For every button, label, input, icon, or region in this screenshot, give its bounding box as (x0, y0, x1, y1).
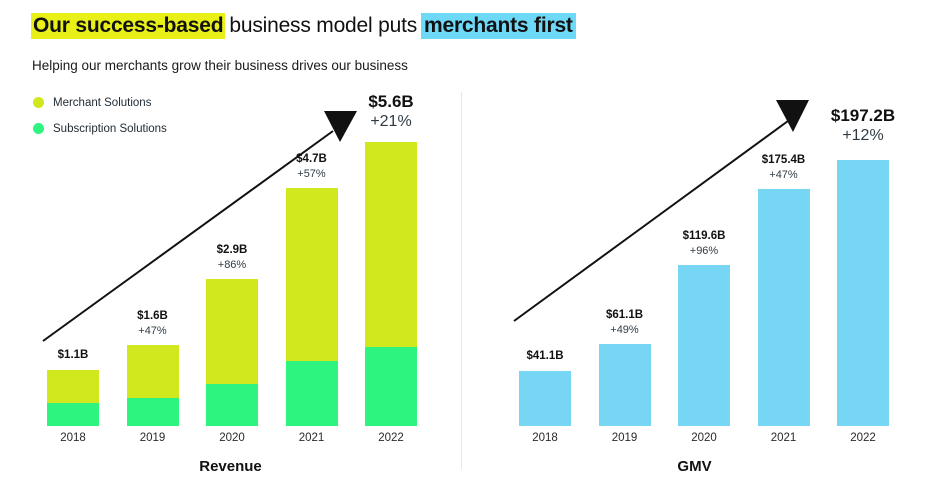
bar-value-label: $4.7B (257, 152, 367, 167)
x-axis-label-2019: 2019 (595, 432, 655, 444)
bar-value-label: $1.6B (98, 309, 208, 324)
bar-gmv-2018[interactable] (519, 371, 571, 426)
bar-annotation-2019: $1.6B+47% (98, 309, 208, 338)
bar-value-label: $1.1B (18, 348, 128, 363)
bar-value-label: $197.2B (798, 105, 927, 126)
bar-growth-label: +12% (798, 126, 927, 146)
bar-segment-subscription-solutions (206, 384, 258, 426)
x-axis-label-2022: 2022 (833, 432, 893, 444)
bar-annotation-2018: $41.1B (490, 349, 600, 364)
bar-annotation-2018: $1.1B (18, 348, 128, 363)
bar-value-label: $41.1B (490, 349, 600, 364)
bar-segment-gmv (758, 189, 810, 426)
bar-segment-subscription-solutions (127, 398, 179, 426)
bar-growth-label: +47% (98, 324, 208, 338)
x-axis-label-2021: 2021 (754, 432, 814, 444)
gmv-plot-area: 2018$41.1B2019$61.1B+49%2020$119.6B+96%2… (462, 0, 927, 478)
revenue-plot-area: 2018$1.1B2019$1.6B+47%2020$2.9B+86%2021$… (0, 0, 461, 478)
bar-segment-subscription-solutions (47, 403, 99, 426)
bar-annotation-2020: $2.9B+86% (177, 243, 287, 272)
bar-annotation-2021: $175.4B+47% (729, 153, 839, 182)
bar-annotation-2022: $197.2B+12% (798, 105, 927, 146)
bar-segment-merchant-solutions (365, 142, 417, 347)
bar-value-label: $119.6B (649, 229, 759, 244)
x-axis-label-2018: 2018 (515, 432, 575, 444)
bar-gmv-2021[interactable] (758, 189, 810, 426)
revenue-chart-title: Revenue (0, 458, 461, 475)
bar-segment-gmv (519, 371, 571, 426)
slide-root: Our success-basedbusiness model putsmerc… (0, 0, 927, 478)
bar-segment-gmv (837, 160, 889, 426)
bar-annotation-2019: $61.1B+49% (570, 308, 680, 337)
bar-annotation-2022: $5.6B+21% (326, 91, 456, 132)
x-axis-label-2022: 2022 (361, 432, 421, 444)
bar-revenue-2019[interactable] (127, 345, 179, 426)
bar-revenue-2022[interactable] (365, 142, 417, 426)
bar-revenue-2020[interactable] (206, 279, 258, 426)
bar-gmv-2019[interactable] (599, 344, 651, 426)
bar-value-label: $61.1B (570, 308, 680, 323)
bar-value-label: $175.4B (729, 153, 839, 168)
bar-segment-subscription-solutions (365, 347, 417, 426)
x-axis-label-2021: 2021 (282, 432, 342, 444)
bar-revenue-2018[interactable] (47, 370, 99, 426)
x-axis-label-2018: 2018 (43, 432, 103, 444)
bar-segment-merchant-solutions (286, 188, 338, 361)
bar-segment-subscription-solutions (286, 361, 338, 426)
x-axis-label-2020: 2020 (202, 432, 262, 444)
bar-value-label: $5.6B (326, 91, 456, 112)
bar-segment-merchant-solutions (127, 345, 179, 398)
x-axis-label-2019: 2019 (123, 432, 183, 444)
bar-growth-label: +21% (326, 112, 456, 132)
bar-segment-gmv (678, 265, 730, 426)
gmv-chart: 2018$41.1B2019$61.1B+49%2020$119.6B+96%2… (462, 0, 927, 478)
bar-segment-merchant-solutions (206, 279, 258, 384)
bar-annotation-2020: $119.6B+96% (649, 229, 759, 258)
bar-segment-gmv (599, 344, 651, 426)
bar-revenue-2021[interactable] (286, 188, 338, 426)
bar-growth-label: +86% (177, 258, 287, 272)
bar-annotation-2021: $4.7B+57% (257, 152, 367, 181)
bar-gmv-2022[interactable] (837, 160, 889, 426)
revenue-chart: 2018$1.1B2019$1.6B+47%2020$2.9B+86%2021$… (0, 0, 461, 478)
bar-growth-label: +96% (649, 244, 759, 258)
bar-growth-label: +47% (729, 168, 839, 182)
bar-segment-merchant-solutions (47, 370, 99, 403)
x-axis-label-2020: 2020 (674, 432, 734, 444)
bar-value-label: $2.9B (177, 243, 287, 258)
gmv-chart-title: GMV (462, 458, 927, 475)
bar-gmv-2020[interactable] (678, 265, 730, 426)
bar-growth-label: +49% (570, 323, 680, 337)
bar-growth-label: +57% (257, 167, 367, 181)
